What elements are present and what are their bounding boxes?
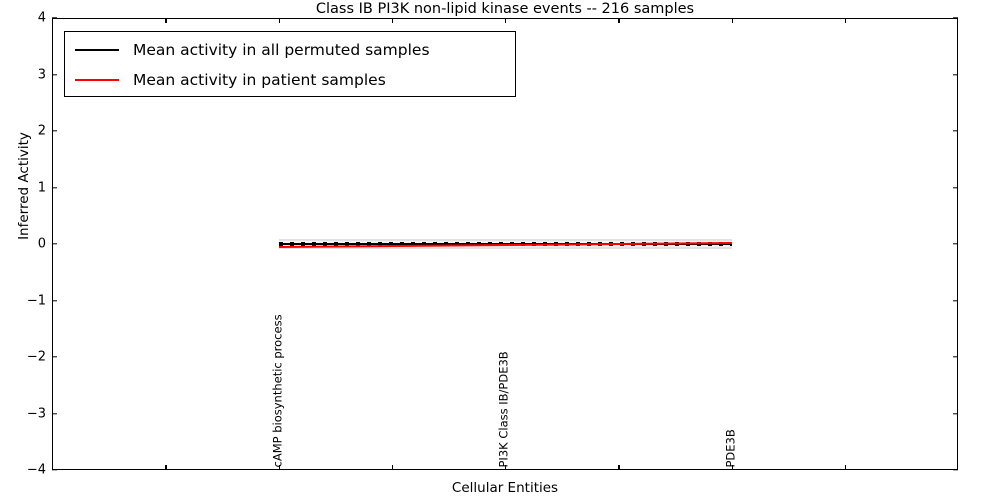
chart-legend: Mean activity in all permuted samples Me… (64, 31, 516, 97)
y-tick-label: 1 (38, 180, 46, 195)
y-tick-label: −1 (27, 293, 46, 308)
legend-label-permuted: Mean activity in all permuted samples (133, 41, 430, 59)
legend-item-permuted: Mean activity in all permuted samples (65, 35, 517, 65)
legend-swatch-permuted (75, 49, 119, 51)
legend-label-patient: Mean activity in patient samples (133, 71, 386, 89)
y-tick-label: 0 (38, 237, 46, 252)
y-axis-label: Inferred Activity (16, 66, 32, 306)
x-axis-label: Cellular Entities (52, 480, 958, 496)
y-tick-label: 3 (38, 67, 46, 82)
y-tick-label: −2 (27, 350, 46, 365)
figure-canvas: Class IB PI3K non-lipid kinase events --… (0, 0, 1000, 500)
chart-title: Class IB PI3K non-lipid kinase events --… (52, 0, 958, 18)
y-tick-label: −3 (27, 406, 46, 421)
y-tick-label: −4 (27, 463, 46, 478)
legend-swatch-patient (75, 79, 119, 81)
y-tick-label: 4 (38, 11, 46, 26)
y-tick-label: 2 (38, 124, 46, 139)
legend-item-patient: Mean activity in patient samples (65, 65, 517, 95)
